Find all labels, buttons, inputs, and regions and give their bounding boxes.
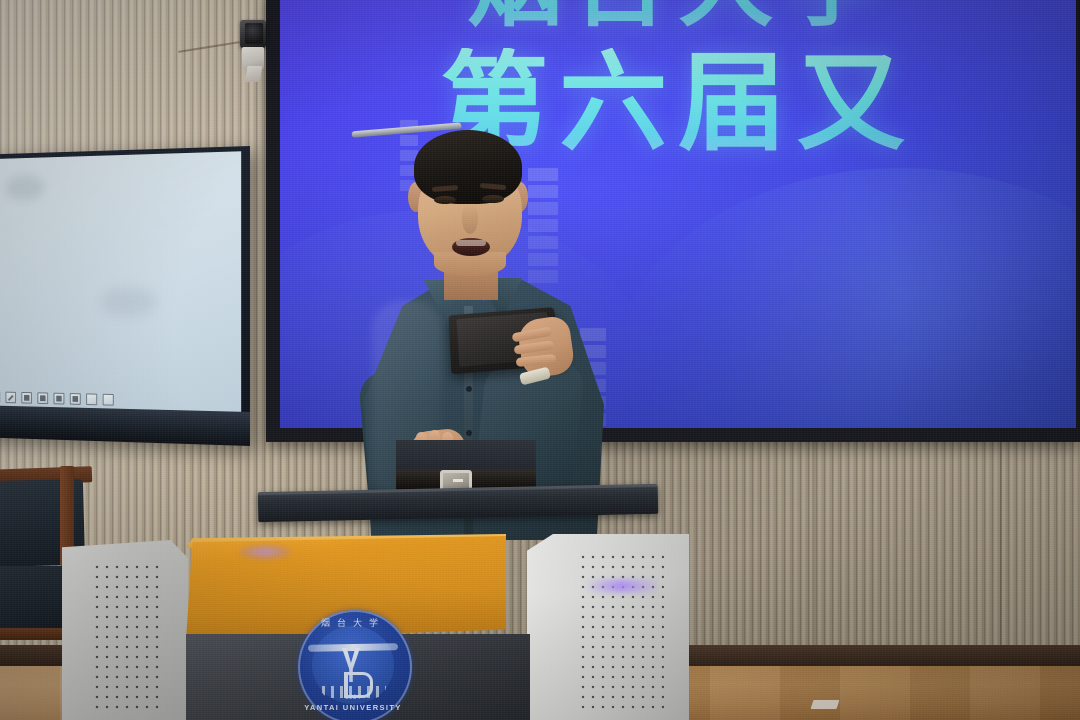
belt-buckle-pin — [453, 479, 463, 482]
camera-lens-icon — [245, 23, 263, 44]
lecture-hall-photo: 烟台大学 第六届又 — [0, 0, 1080, 720]
whiteboard-smudge — [5, 175, 44, 201]
eraser-icon[interactable] — [21, 392, 32, 404]
presenter-hair — [414, 130, 522, 204]
presenter-teeth — [456, 240, 486, 246]
pen-icon[interactable] — [5, 392, 16, 404]
lectern-speaker-grille — [92, 562, 162, 712]
presenter-nose — [462, 204, 478, 234]
camera-mount-arm — [245, 66, 263, 82]
blank-icon[interactable] — [103, 394, 114, 406]
shirt-button — [466, 430, 472, 436]
presenter-eye — [482, 195, 504, 203]
paper-scrap — [811, 700, 840, 709]
whiteboard-screen[interactable] — [0, 151, 241, 412]
emblem-english-name: YANTAI UNIVERSITY — [298, 703, 408, 712]
eraser-icon[interactable] — [37, 392, 48, 404]
emblem-chinese-name: 烟台大学 — [298, 616, 408, 629]
lectern-speaker-grille — [578, 552, 664, 712]
security-camera — [238, 20, 268, 82]
page-icon[interactable] — [54, 393, 65, 405]
whiteboard-smudge — [101, 287, 157, 316]
lectern-led-strip — [584, 580, 658, 592]
page-icon[interactable] — [70, 393, 81, 405]
emblem-year: 1984 — [298, 695, 408, 701]
camera-head-icon — [240, 20, 266, 48]
lectern-led-glow — [238, 544, 292, 560]
presenter-mouth — [452, 238, 490, 256]
interactive-whiteboard[interactable] — [0, 146, 250, 446]
shirt-button — [466, 386, 472, 392]
presenter-eye — [434, 196, 456, 204]
yantai-university-emblem: 烟台大学 1984 YANTAI UNIVERSITY — [298, 610, 416, 720]
blank-icon[interactable] — [86, 393, 97, 405]
